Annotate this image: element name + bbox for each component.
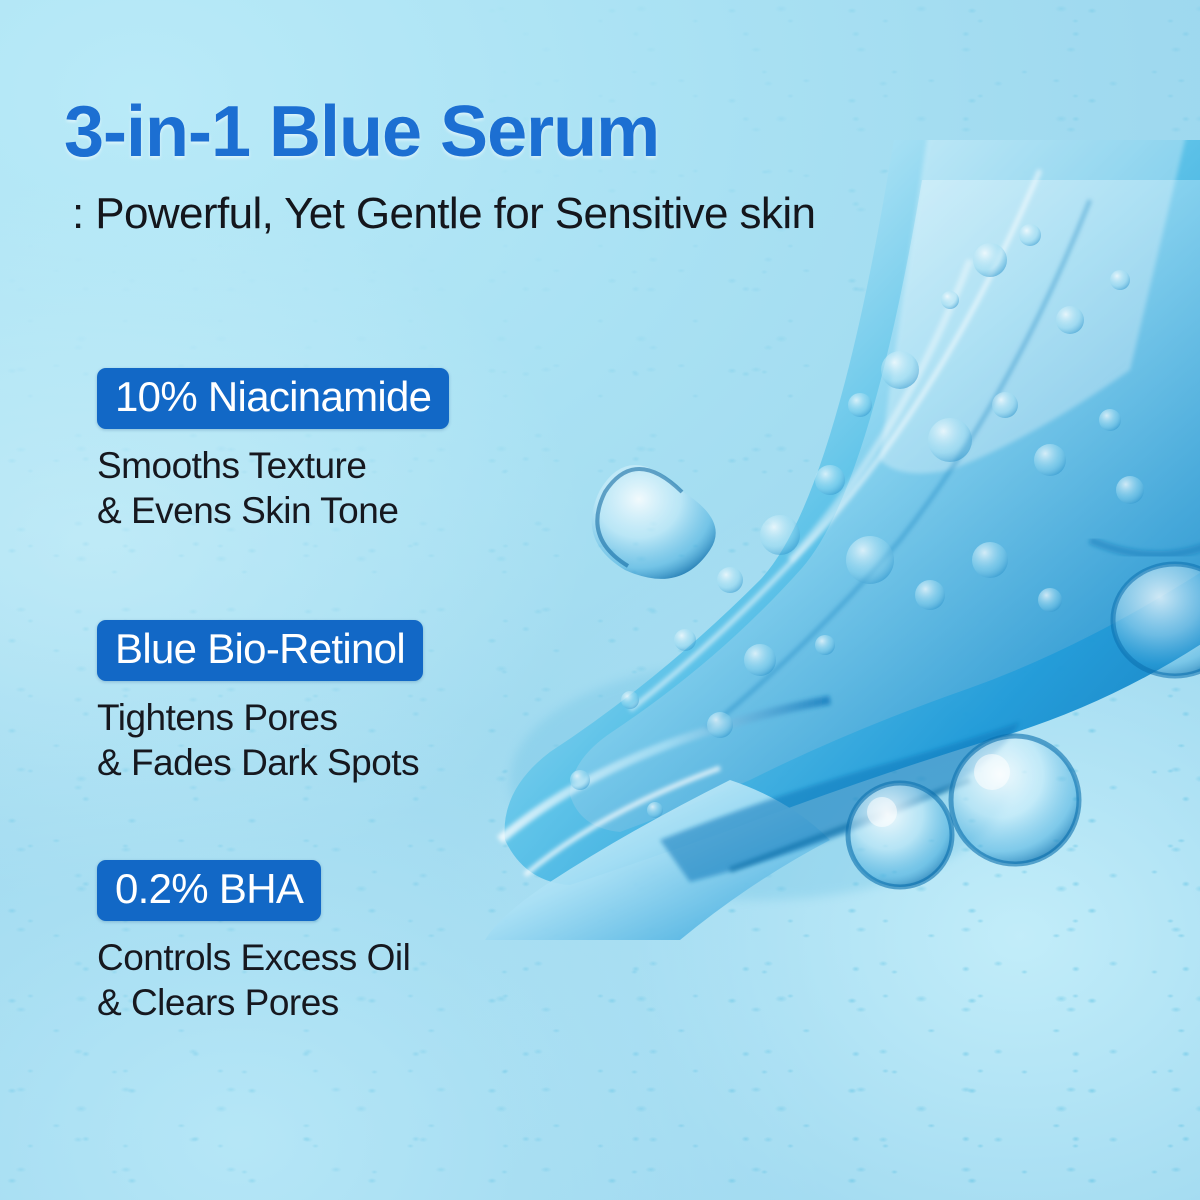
feature-item-niacinamide: 10% Niacinamide Smooths Texture & Evens … <box>97 368 449 534</box>
feature-description-line: Smooths Texture <box>97 443 449 489</box>
product-photo-serum-gel <box>430 140 1200 940</box>
ingredient-badge-bio-retinol: Blue Bio-Retinol <box>97 620 423 681</box>
serum-gel-illustration <box>430 140 1200 940</box>
ingredient-badge-niacinamide: 10% Niacinamide <box>97 368 449 429</box>
product-banner: 3-in-1 Blue Serum : Powerful, Yet Gentle… <box>0 0 1200 1200</box>
feature-description-niacinamide: Smooths Texture & Evens Skin Tone <box>97 443 449 535</box>
feature-description-line: Controls Excess Oil <box>97 935 410 981</box>
feature-description-line: & Evens Skin Tone <box>97 488 449 534</box>
feature-description-line: Tightens Pores <box>97 695 423 741</box>
feature-description-bha: Controls Excess Oil & Clears Pores <box>97 935 410 1027</box>
feature-item-bha: 0.2% BHA Controls Excess Oil & Clears Po… <box>97 860 410 1026</box>
page-title: 3-in-1 Blue Serum <box>64 96 659 168</box>
feature-item-bio-retinol: Blue Bio-Retinol Tightens Pores & Fades … <box>97 620 423 786</box>
feature-description-bio-retinol: Tightens Pores & Fades Dark Spots <box>97 695 423 787</box>
page-subtitle: : Powerful, Yet Gentle for Sensitive ski… <box>72 192 815 236</box>
feature-description-line: & Fades Dark Spots <box>97 740 423 786</box>
feature-description-line: & Clears Pores <box>97 980 410 1026</box>
ingredient-badge-bha: 0.2% BHA <box>97 860 321 921</box>
